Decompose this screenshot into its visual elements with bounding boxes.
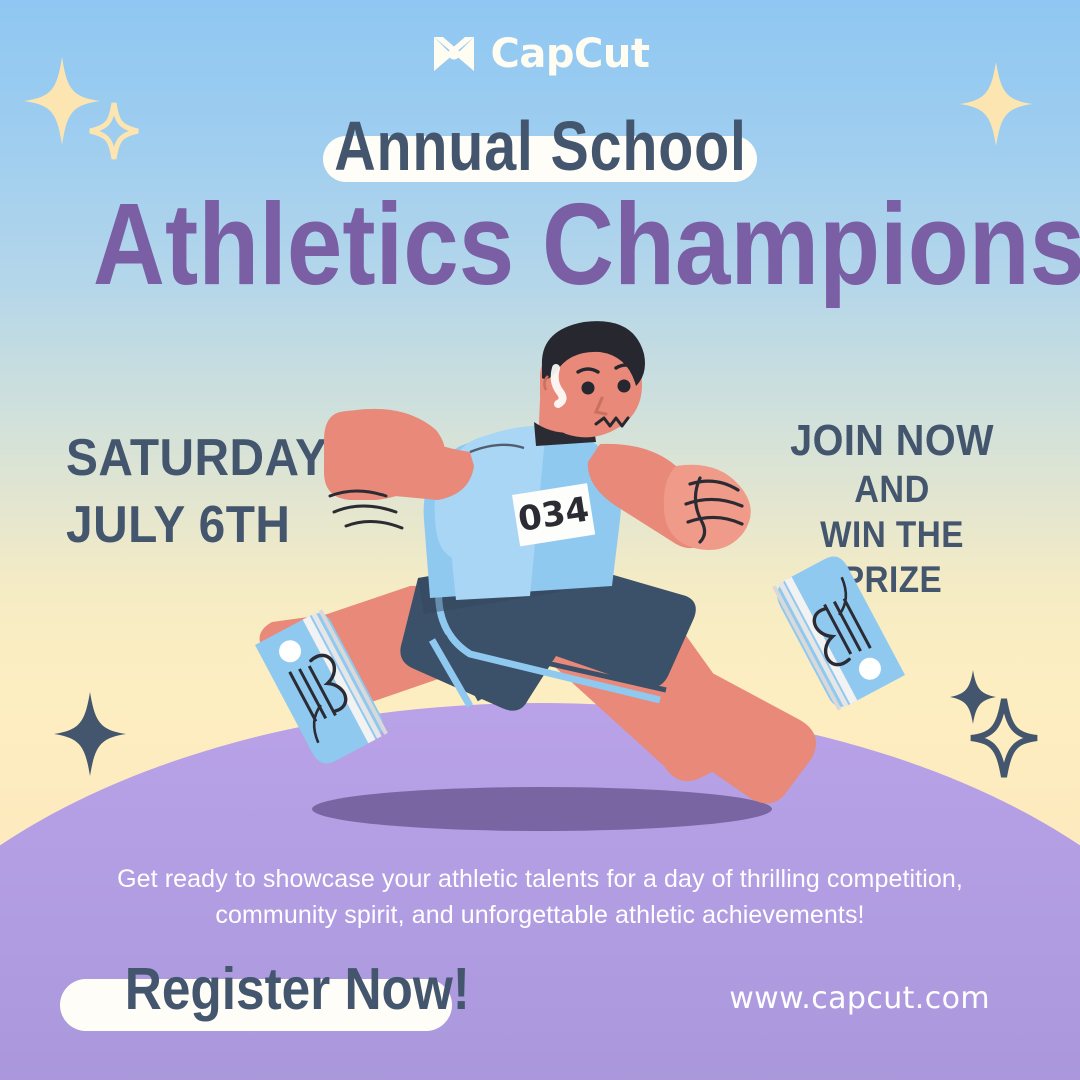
sparkle-bottom-right-large (968, 696, 1040, 780)
promo-line3: WIN THE PRIZE (775, 513, 1009, 602)
promo-line2: AND (775, 468, 1009, 514)
website-url[interactable]: www.capcut.com (729, 981, 990, 1016)
bib-number-text: 034 (515, 489, 591, 540)
capcut-logo[interactable]: CapCut (0, 34, 1080, 74)
athlete-bib-number: 034 (512, 483, 595, 546)
athlete-right-arm (588, 444, 751, 550)
athlete-jersey (424, 426, 621, 600)
register-cta-label: Register Now! (99, 960, 496, 1019)
athlete-back-leg (260, 585, 482, 710)
capcut-logo-icon (431, 34, 477, 74)
ground-shadow-ellipse (312, 787, 772, 831)
register-cta-text: Register Now! (125, 960, 470, 1019)
promo-line1: JOIN NOW (775, 415, 1009, 468)
capcut-logo-text: CapCut (491, 34, 650, 74)
sparkle-bottom-right-small (948, 668, 998, 726)
athlete-head (534, 321, 645, 446)
event-date-line1: SATURDAY, (66, 425, 336, 492)
register-cta[interactable]: Register Now! (60, 960, 496, 1019)
page-title-line1: Annual School (334, 111, 746, 181)
page-title-line2-text: Athletics Championship (93, 186, 1080, 302)
event-date-line2: JULY 6TH (66, 492, 336, 559)
athlete-shorts (400, 556, 695, 711)
sparkle-bottom-left (52, 690, 128, 778)
headline-line1-group: Annual School (0, 103, 1080, 189)
event-date: SATURDAY, JULY 6TH (66, 425, 359, 558)
poster-canvas: CapCut Annual School Athletics Champions… (0, 0, 1080, 1080)
page-title-line2: Athletics Championship (0, 186, 1080, 302)
event-description: Get ready to showcase your athletic tale… (100, 862, 980, 933)
promo-callout: JOIN NOW AND WIN THE PRIZE (762, 415, 1022, 602)
